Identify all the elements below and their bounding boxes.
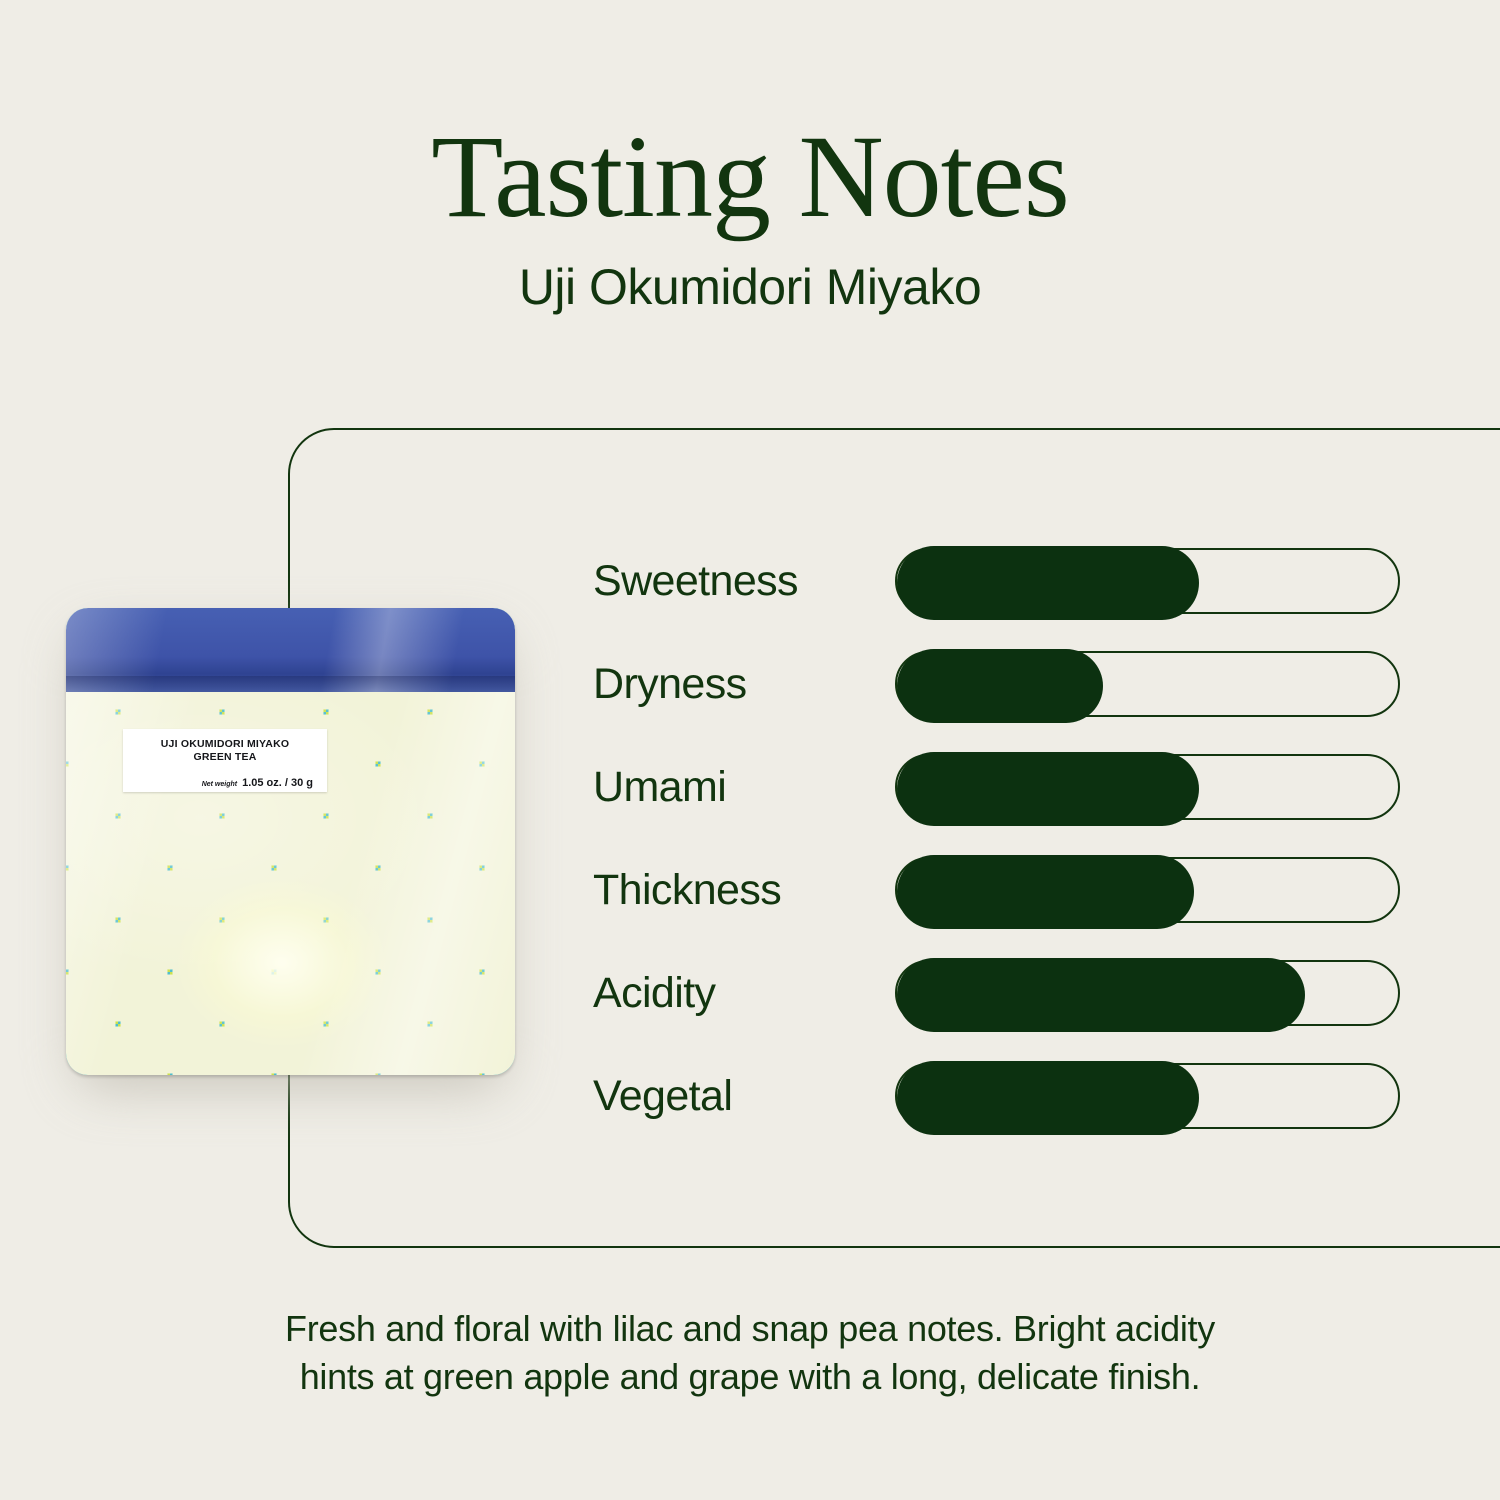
attribute-label-umami: Umami	[593, 751, 726, 823]
attribute-track-acidity	[895, 960, 1400, 1026]
attribute-fill-vegetal	[897, 1061, 1199, 1135]
page-subtitle: Uji Okumidori Miyako	[0, 236, 1500, 312]
attribute-row-sweetness: Sweetness	[593, 545, 1403, 648]
attribute-row-acidity: Acidity	[593, 957, 1403, 1060]
attribute-row-vegetal: Vegetal	[593, 1060, 1403, 1163]
tasting-description: Fresh and floral with lilac and snap pea…	[250, 1305, 1250, 1400]
attribute-label-dryness: Dryness	[593, 648, 747, 720]
net-weight-value: 1.05 oz. / 30 g	[242, 777, 313, 789]
package-label-title: UJI OKUMIDORI MIYAKO GREEN TEA	[129, 738, 321, 765]
attribute-list: Sweetness Dryness Umami Thickness Acidit…	[593, 545, 1403, 1163]
package-label: UJI OKUMIDORI MIYAKO GREEN TEA Net weigh…	[123, 729, 327, 792]
attribute-row-umami: Umami	[593, 751, 1403, 854]
attribute-fill-thickness	[897, 855, 1194, 929]
package-seal	[66, 608, 515, 692]
attribute-label-thickness: Thickness	[593, 854, 781, 926]
product-package: UJI OKUMIDORI MIYAKO GREEN TEA Net weigh…	[66, 608, 515, 1075]
attribute-fill-dryness	[897, 649, 1103, 723]
attribute-track-vegetal	[895, 1063, 1400, 1129]
attribute-fill-acidity	[897, 958, 1305, 1032]
attribute-row-thickness: Thickness	[593, 854, 1403, 957]
attribute-track-umami	[895, 754, 1400, 820]
package-label-title-line1: UJI OKUMIDORI MIYAKO	[129, 738, 321, 751]
net-weight-prefix: Net weight	[202, 781, 237, 788]
package-label-title-line2: GREEN TEA	[129, 751, 321, 764]
attribute-fill-sweetness	[897, 546, 1199, 620]
page-title: Tasting Notes	[0, 118, 1500, 236]
package-label-weight: Net weight1.05 oz. / 30 g	[129, 773, 321, 791]
header: Tasting Notes Uji Okumidori Miyako	[0, 0, 1500, 312]
attribute-label-acidity: Acidity	[593, 957, 715, 1029]
package-body: UJI OKUMIDORI MIYAKO GREEN TEA Net weigh…	[66, 608, 515, 1075]
attribute-label-sweetness: Sweetness	[593, 545, 798, 617]
attribute-row-dryness: Dryness	[593, 648, 1403, 751]
attribute-label-vegetal: Vegetal	[593, 1060, 732, 1132]
attribute-track-sweetness	[895, 548, 1400, 614]
attribute-track-thickness	[895, 857, 1400, 923]
attribute-track-dryness	[895, 651, 1400, 717]
attribute-fill-umami	[897, 752, 1199, 826]
